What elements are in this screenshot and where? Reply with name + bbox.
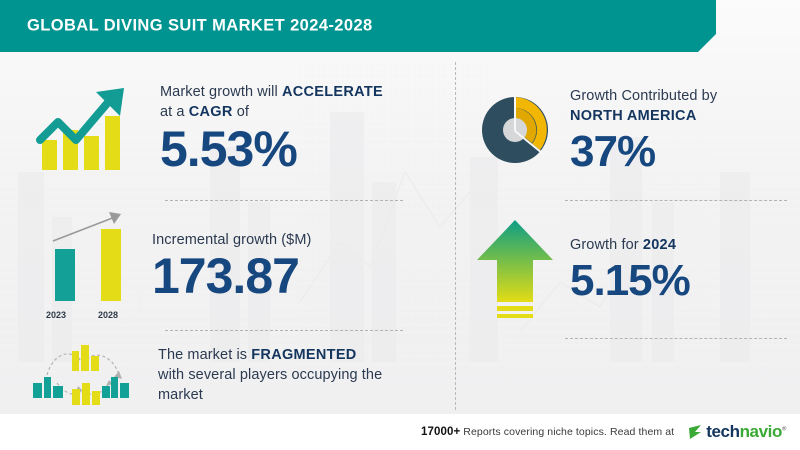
cagr-line-2: at a CAGR of xyxy=(160,102,442,122)
header-banner: GLOBAL DIVING SUIT MARKET 2024-2028 xyxy=(0,0,716,52)
fragmentation-line-1: The market is FRAGMENTED xyxy=(158,345,442,365)
page-title: GLOBAL DIVING SUIT MARKET 2024-2028 xyxy=(27,17,373,36)
donut-chart-icon xyxy=(470,84,560,176)
fragmentation-text: The market is FRAGMENTED with several pl… xyxy=(142,345,442,405)
growth-2024-value: 5.15% xyxy=(570,259,792,303)
divider-right-upper xyxy=(565,200,787,201)
technavio-logo[interactable]: technavio® xyxy=(688,422,786,442)
technavio-trademark: ® xyxy=(782,426,786,432)
bar-chart-growth-icon xyxy=(22,75,142,181)
fragmentation-block: The market is FRAGMENTED with several pl… xyxy=(22,336,442,414)
cagr-line2-bold: CAGR xyxy=(189,104,233,120)
cagr-line-1: Market growth will ACCELERATE xyxy=(160,82,442,102)
two-bars-arrow-icon: 2023 2028 xyxy=(22,209,142,321)
city-clusters-icon xyxy=(22,338,142,412)
incremental-growth-label: Incremental growth ($M) xyxy=(152,230,442,250)
growth-2024-year: 2024 xyxy=(643,237,676,253)
region-line-2: NORTH AMERICA xyxy=(570,106,792,126)
divider-right-lower xyxy=(565,338,787,339)
technavio-mark-icon xyxy=(688,424,704,441)
region-contribution-text: Growth Contributed by NORTH AMERICA 37% xyxy=(560,86,792,174)
incremental-growth-value: 173.87 xyxy=(152,251,442,301)
incremental-growth-block: 2023 2028 Incremental growth ($M) 173.87 xyxy=(22,206,442,324)
fragmentation-line-3: market xyxy=(158,385,442,405)
cagr-line2-prefix: at a xyxy=(160,104,189,120)
fragmentation-line1-bold: FRAGMENTED xyxy=(251,347,356,363)
bar-label-2028: 2028 xyxy=(91,310,125,320)
bar-label-2023: 2023 xyxy=(39,310,73,320)
bar-axis-labels: 2023 2028 xyxy=(39,310,125,320)
cagr-text: Market growth will ACCELERATE at a CAGR … xyxy=(142,82,442,174)
column-divider xyxy=(455,62,456,410)
footer-caption: Reports covering niche topics. Read them… xyxy=(463,426,674,438)
cagr-line1-prefix: Market growth will xyxy=(160,84,282,100)
growth-2024-label-prefix: Growth for xyxy=(570,237,643,253)
region-contribution-block: Growth Contributed by NORTH AMERICA 37% xyxy=(470,68,792,192)
region-contribution-value: 37% xyxy=(570,130,792,174)
growth-2024-label: Growth for 2024 xyxy=(570,235,792,255)
cagr-line1-bold: ACCELERATE xyxy=(282,84,383,100)
footer-text: 17000+ Reports covering niche topics. Re… xyxy=(421,426,674,438)
region-line-1: Growth Contributed by xyxy=(570,86,792,106)
cagr-line2-suffix: of xyxy=(233,104,249,120)
fragmentation-line-2: with several players occupying the xyxy=(158,365,442,385)
incremental-growth-text: Incremental growth ($M) 173.87 xyxy=(142,230,442,301)
infographic-poster: GLOBAL DIVING SUIT MARKET 2024-2028 Mark… xyxy=(0,0,800,450)
cagr-block: Market growth will ACCELERATE at a CAGR … xyxy=(22,62,442,194)
technavio-word-navio: navio xyxy=(740,422,782,441)
footer-report-count: 17000+ xyxy=(421,426,460,438)
technavio-word-tech: tech xyxy=(706,422,739,441)
region-name: NORTH AMERICA xyxy=(570,108,697,124)
up-arrow-gradient-icon xyxy=(470,214,560,324)
footer-bar: 17000+ Reports covering niche topics. Re… xyxy=(0,414,800,450)
growth-2024-block: Growth for 2024 5.15% xyxy=(470,208,792,330)
divider-left-lower xyxy=(165,330,403,331)
divider-left-upper xyxy=(165,200,403,201)
growth-2024-text: Growth for 2024 5.15% xyxy=(560,235,792,303)
fragmentation-line1-prefix: The market is xyxy=(158,347,251,363)
technavio-wordmark: technavio® xyxy=(706,422,786,442)
cagr-value: 5.53% xyxy=(160,124,442,174)
